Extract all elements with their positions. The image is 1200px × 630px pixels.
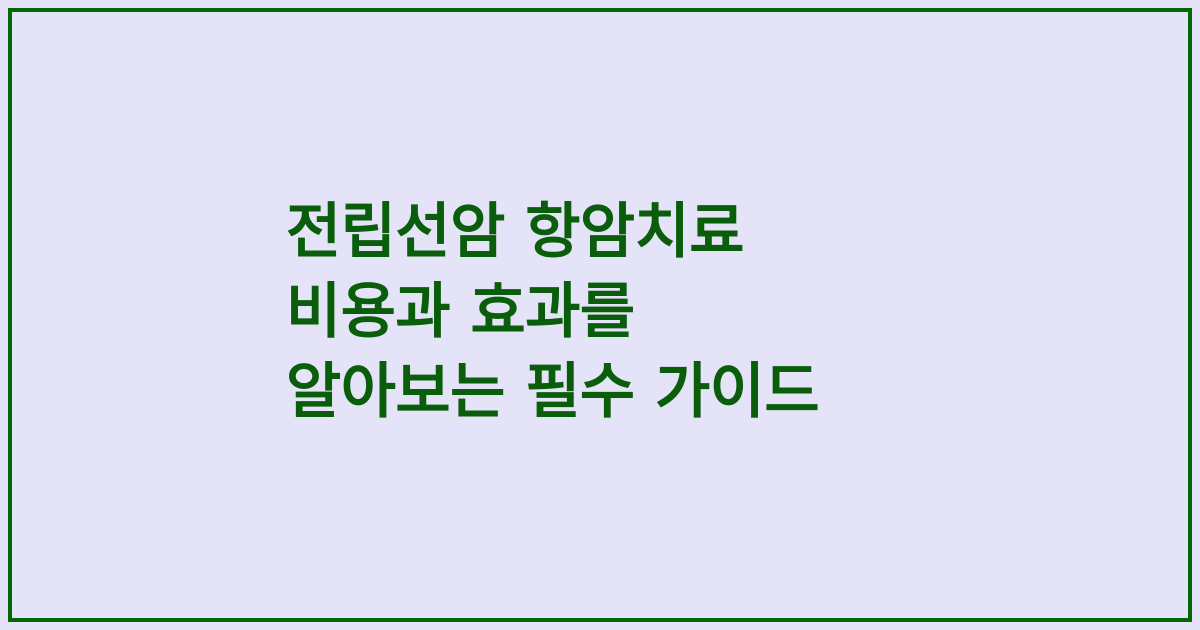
thumbnail-card: 전립선암 항암치료 비용과 효과를 알아보는 필수 가이드 [0,0,1200,630]
title-block: 전립선암 항암치료 비용과 효과를 알아보는 필수 가이드 [12,12,1188,618]
card-border-frame: 전립선암 항암치료 비용과 효과를 알아보는 필수 가이드 [8,8,1192,622]
title-line-1: 전립선암 항암치료 [286,192,744,272]
title-line-3: 알아보는 필수 가이드 [286,352,819,432]
title-line-2: 비용과 효과를 [286,272,635,352]
